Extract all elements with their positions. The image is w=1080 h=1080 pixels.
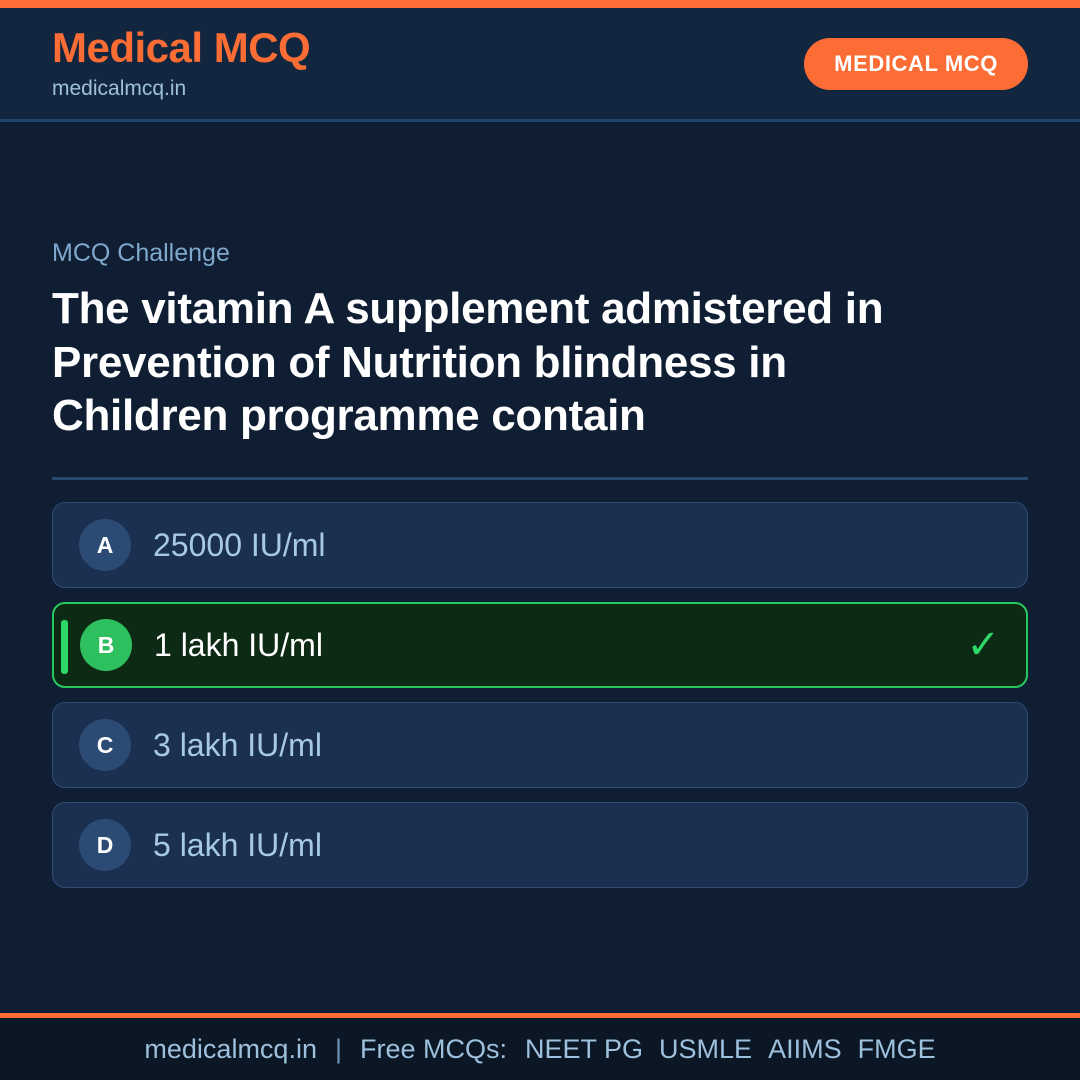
footer-exam-fmge: FMGE bbox=[858, 1034, 936, 1065]
top-accent-bar bbox=[0, 0, 1080, 8]
main-content: MCQ Challenge The vitamin A supplement a… bbox=[0, 122, 1080, 1013]
brand-badge: MEDICAL MCQ bbox=[804, 38, 1028, 90]
option-letter-badge: A bbox=[79, 519, 131, 571]
footer-prefix: Free MCQs: bbox=[360, 1034, 507, 1065]
footer-exam-list: NEET PG USMLE AIIMS FMGE bbox=[525, 1034, 936, 1065]
question-divider bbox=[52, 477, 1028, 480]
option-d[interactable]: D 5 lakh IU/ml ✓ bbox=[52, 802, 1028, 888]
option-letter-badge: C bbox=[79, 719, 131, 771]
option-label: 3 lakh IU/ml bbox=[153, 726, 322, 764]
footer-exam-usmle: USMLE bbox=[659, 1034, 752, 1065]
eyebrow-label: MCQ Challenge bbox=[52, 238, 1028, 268]
header: Medical MCQ medicalmcq.in MEDICAL MCQ bbox=[0, 8, 1080, 122]
option-letter-badge: B bbox=[80, 619, 132, 671]
footer-exam-neet-pg: NEET PG bbox=[525, 1034, 643, 1065]
option-b[interactable]: B 1 lakh IU/ml ✓ bbox=[52, 602, 1028, 688]
option-letter-badge: D bbox=[79, 819, 131, 871]
footer: medicalmcq.in | Free MCQs: NEET PG USMLE… bbox=[0, 1018, 1080, 1080]
footer-inner: medicalmcq.in | Free MCQs: NEET PG USMLE… bbox=[144, 1034, 935, 1065]
correct-accent-bar bbox=[61, 620, 68, 674]
footer-site-link[interactable]: medicalmcq.in bbox=[144, 1034, 317, 1065]
question-text: The vitamin A supplement admistered in P… bbox=[52, 282, 952, 443]
option-c[interactable]: C 3 lakh IU/ml ✓ bbox=[52, 702, 1028, 788]
brand-title: Medical MCQ bbox=[52, 25, 310, 70]
option-label: 5 lakh IU/ml bbox=[153, 826, 322, 864]
options-list: A 25000 IU/ml ✓ B 1 lakh IU/ml ✓ C 3 lak… bbox=[52, 502, 1028, 888]
option-label: 25000 IU/ml bbox=[153, 526, 326, 564]
mcq-card: Medical MCQ medicalmcq.in MEDICAL MCQ MC… bbox=[0, 0, 1080, 1080]
brand-block: Medical MCQ medicalmcq.in bbox=[52, 25, 310, 102]
brand-subtitle: medicalmcq.in bbox=[52, 75, 310, 102]
footer-separator: | bbox=[335, 1034, 342, 1065]
footer-exam-aiims: AIIMS bbox=[768, 1034, 842, 1065]
option-a[interactable]: A 25000 IU/ml ✓ bbox=[52, 502, 1028, 588]
check-icon: ✓ bbox=[966, 625, 1000, 665]
option-label: 1 lakh IU/ml bbox=[154, 626, 323, 664]
